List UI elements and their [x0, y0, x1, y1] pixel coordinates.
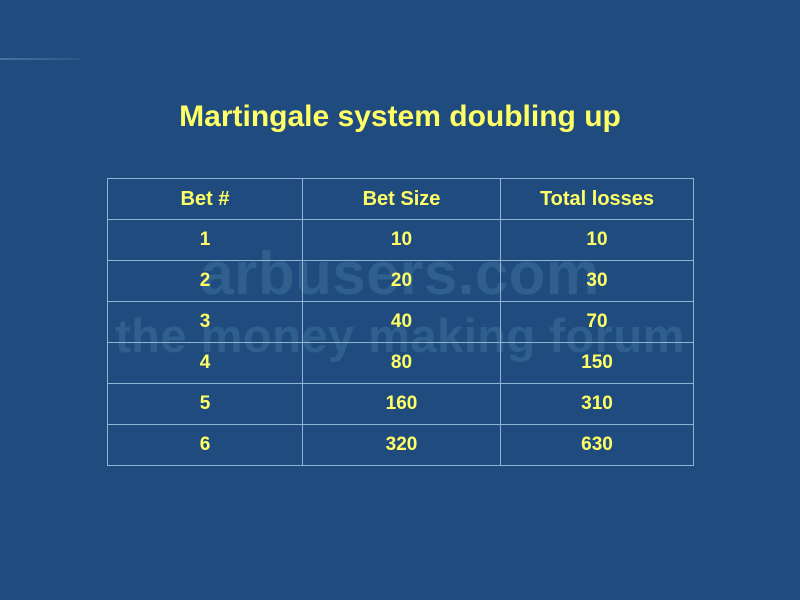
cell-bet-number: 6: [108, 425, 303, 466]
table-row: 5 160 310: [108, 384, 694, 425]
table-header: Bet # Bet Size Total losses: [108, 179, 694, 220]
cell-total-losses: 150: [501, 343, 694, 384]
cell-total-losses: 30: [501, 261, 694, 302]
page-title: Martingale system doubling up: [0, 100, 800, 134]
cell-total-losses: 70: [501, 302, 694, 343]
cell-total-losses: 10: [501, 220, 694, 261]
column-header-bet-size: Bet Size: [303, 179, 501, 220]
cell-bet-size: 20: [303, 261, 501, 302]
slide-canvas: arbusers.com the money making forum Mart…: [0, 0, 800, 600]
cell-bet-size: 40: [303, 302, 501, 343]
martingale-table: Bet # Bet Size Total losses 1 10 10 2 20…: [107, 178, 694, 466]
cell-bet-number: 2: [108, 261, 303, 302]
cell-total-losses: 630: [501, 425, 694, 466]
cell-bet-number: 3: [108, 302, 303, 343]
table-row: 1 10 10: [108, 220, 694, 261]
table-header-row: Bet # Bet Size Total losses: [108, 179, 694, 220]
table-row: 6 320 630: [108, 425, 694, 466]
cell-bet-number: 4: [108, 343, 303, 384]
table-row: 2 20 30: [108, 261, 694, 302]
cell-bet-number: 1: [108, 220, 303, 261]
table-row: 4 80 150: [108, 343, 694, 384]
column-header-total-losses: Total losses: [501, 179, 694, 220]
cell-bet-size: 80: [303, 343, 501, 384]
cell-total-losses: 310: [501, 384, 694, 425]
cell-bet-size: 320: [303, 425, 501, 466]
cell-bet-size: 10: [303, 220, 501, 261]
top-left-rule: [0, 58, 80, 60]
table-body: 1 10 10 2 20 30 3 40 70 4 80 150 5 160: [108, 220, 694, 466]
table-row: 3 40 70: [108, 302, 694, 343]
cell-bet-number: 5: [108, 384, 303, 425]
column-header-bet-number: Bet #: [108, 179, 303, 220]
cell-bet-size: 160: [303, 384, 501, 425]
